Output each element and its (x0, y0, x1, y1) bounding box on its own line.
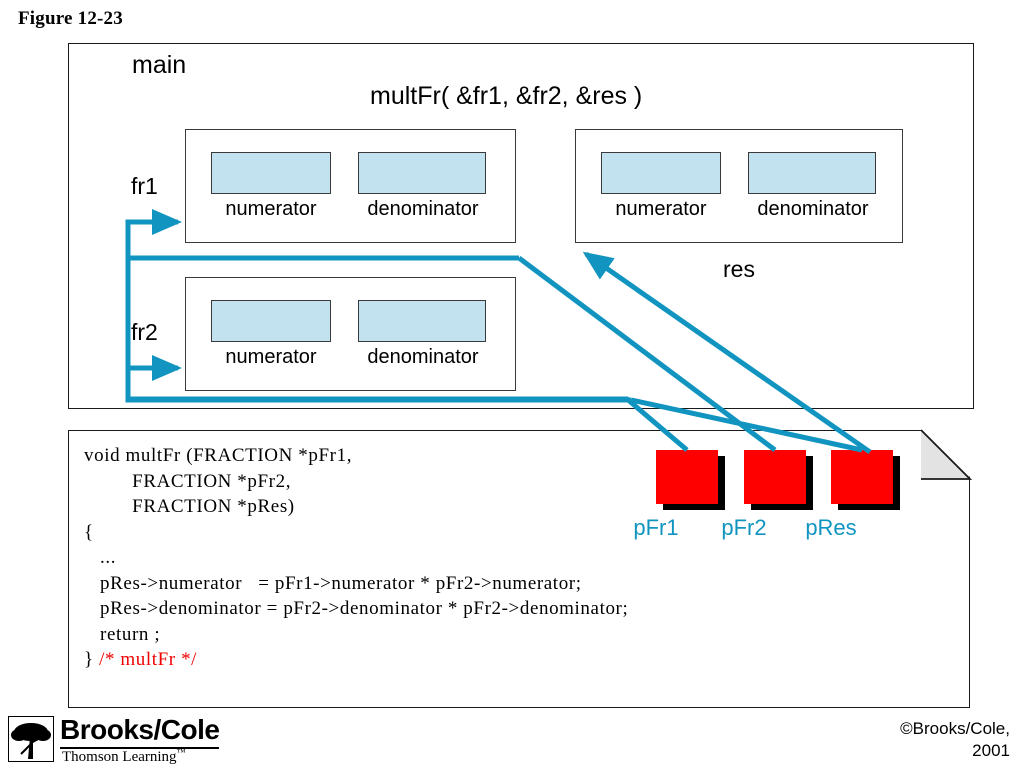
code-line: pRes->denominator = pFr2->denominator * … (84, 598, 628, 619)
code-line: void multFr (FRACTION *pFr1, (84, 445, 352, 466)
pointer-box-pres (831, 450, 893, 504)
variable-label-fr2: fr2 (131, 319, 158, 346)
field-label-numerator: numerator (200, 346, 342, 369)
field-label-numerator: numerator (200, 198, 342, 221)
publisher-logo: Brooks/Cole Thomson Learning™ (8, 716, 248, 764)
variable-label-fr1: fr1 (131, 173, 158, 200)
code-line: pRes->numerator = pFr1->numerator * pFr2… (84, 573, 582, 594)
logo-subtitle-text: Thomson Learning (62, 749, 177, 765)
field-label-numerator: numerator (590, 198, 732, 221)
code-line: return ; (84, 624, 160, 645)
function-source-code: void multFr (FRACTION *pFr1, FRACTION *p… (84, 443, 628, 673)
copyright-notice: ©Brooks/Cole, 2001 (900, 718, 1010, 762)
code-line: FRACTION *pFr2, (84, 471, 291, 492)
pointer-box-pfr2 (744, 450, 806, 504)
trademark-icon: ™ (177, 747, 186, 757)
struct-box-res: numerator denominator (575, 129, 903, 243)
pointer-label-pfr2: pFr2 (704, 515, 784, 541)
code-line: } (84, 649, 99, 670)
main-frame-label: main (132, 51, 186, 80)
field-label-denominator: denominator (734, 198, 892, 221)
field-label-denominator: denominator (344, 198, 502, 221)
code-line: FRACTION *pRes) (84, 496, 295, 517)
pointer-label-pfr1: pFr1 (616, 515, 696, 541)
field-label-denominator: denominator (344, 346, 502, 369)
struct-box-fr1: numerator denominator (185, 129, 516, 243)
pointer-box-pfr1 (656, 450, 718, 504)
field-cell-denominator (358, 300, 486, 342)
field-cell-numerator (211, 152, 331, 194)
struct-box-fr2: numerator denominator (185, 277, 516, 391)
tree-icon (8, 716, 54, 762)
logo-wordmark: Brooks/Cole (60, 714, 219, 749)
field-cell-denominator (358, 152, 486, 194)
code-line: ... (84, 547, 116, 568)
figure-caption: Figure 12-23 (18, 8, 123, 30)
function-call-statement: multFr( &fr1, &fr2, &res ) (370, 82, 642, 111)
code-line: { (84, 522, 94, 543)
pointer-label-pres: pRes (791, 515, 871, 541)
variable-label-res: res (723, 256, 755, 283)
field-cell-numerator (211, 300, 331, 342)
field-cell-numerator (601, 152, 721, 194)
code-closing-comment: /* multFr */ (99, 649, 197, 670)
logo-subtitle: Thomson Learning™ (62, 747, 185, 766)
field-cell-denominator (748, 152, 876, 194)
